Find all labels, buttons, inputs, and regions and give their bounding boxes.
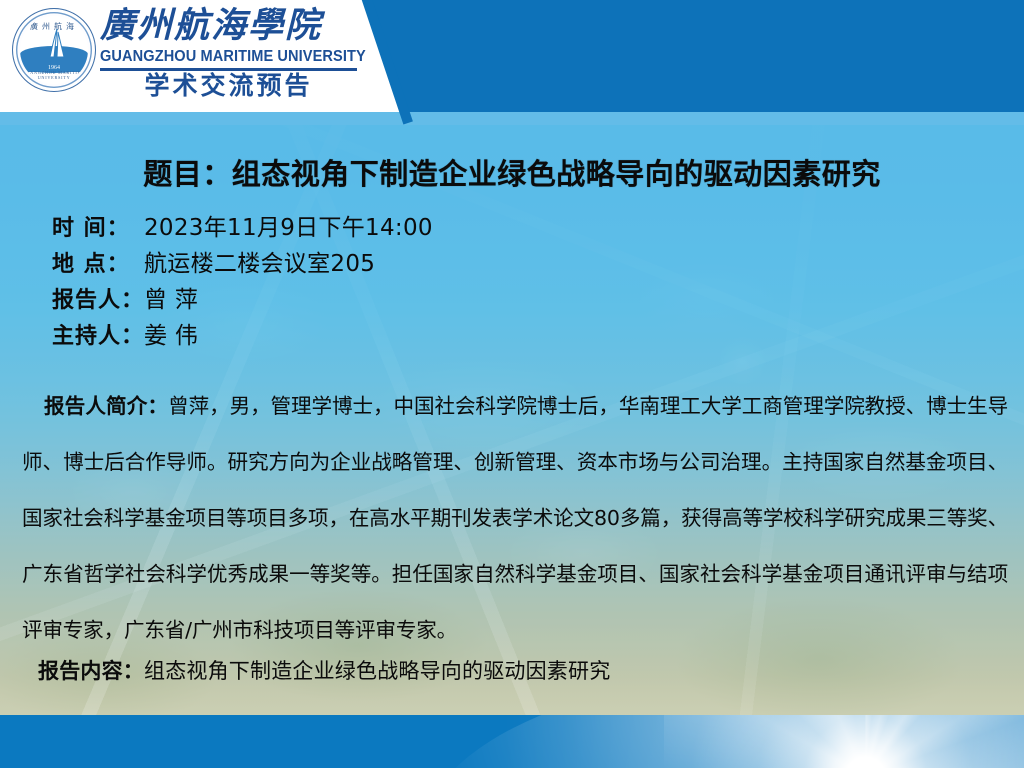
light-burst-icon (664, 715, 1024, 768)
university-name-en: GUANGZHOU MARITIME UNIVERSITY (100, 48, 346, 66)
university-name-cn: 廣州航海學院 (100, 4, 362, 48)
talk-abstract-text: 组态视角下制造企业绿色战略导向的驱动因素研究 (144, 659, 610, 683)
speaker-bio-text: 曾萍，男，管理学博士，中国社会科学院博士后，华南理工大学工商管理学院教授、博士生… (22, 394, 1008, 642)
meta-label-host: 主持人： (52, 318, 144, 350)
crest-arc-bottom-label: GUANGZHOU MARITIME UNIVERSITY (20, 70, 88, 80)
header-underline-strip (0, 112, 1024, 125)
poster-slide: 廣州航海 1964 GUANGZHOU MARITIME UNIVERSITY … (0, 0, 1024, 768)
university-lockup: 廣州航海學院 GUANGZHOU MARITIME UNIVERSITY 学术交… (100, 4, 362, 101)
meta-label-location: 地 点： (52, 246, 144, 278)
banner-subtitle: 学术交流预告 (100, 73, 357, 101)
talk-abstract-label: 报告内容： (38, 659, 144, 683)
meta-row-speaker: 报告人： 曾 萍 (52, 280, 672, 316)
meta-value-host: 姜 伟 (144, 316, 198, 350)
talk-title: 题目：组态视角下制造企业绿色战略导向的驱动因素研究 (0, 151, 1024, 193)
talk-abstract: 报告内容：组态视角下制造企业绿色战略导向的驱动因素研究 (38, 655, 998, 685)
meta-label-time: 时 间： (52, 210, 144, 242)
meta-label-speaker: 报告人： (52, 282, 144, 314)
footer-band (0, 715, 1024, 768)
content-area: 题目：组态视角下制造企业绿色战略导向的驱动因素研究 时 间： 2023年11月9… (0, 125, 1024, 715)
meta-value-time: 2023年11月9日下午14:00 (144, 208, 433, 242)
meta-value-location: 航运楼二楼会议室205 (144, 244, 375, 278)
lockup-divider (100, 68, 357, 71)
meta-value-speaker: 曾 萍 (144, 280, 198, 314)
talk-meta-list: 时 间： 2023年11月9日下午14:00 地 点： 航运楼二楼会议室205 … (52, 208, 672, 352)
speaker-bio: 报告人简介：曾萍，男，管理学博士，中国社会科学院博士后，华南理工大学工商管理学院… (22, 378, 1008, 658)
crest-inner-disc: 廣州航海 1964 GUANGZHOU MARITIME UNIVERSITY (20, 16, 88, 84)
speaker-bio-label: 报告人简介： (44, 394, 168, 418)
university-crest: 廣州航海 1964 GUANGZHOU MARITIME UNIVERSITY (12, 8, 96, 92)
sailboat-icon (47, 28, 67, 62)
meta-row-time: 时 间： 2023年11月9日下午14:00 (52, 208, 672, 244)
meta-row-host: 主持人： 姜 伟 (52, 316, 672, 352)
meta-row-location: 地 点： 航运楼二楼会议室205 (52, 244, 672, 280)
header-band: 廣州航海 1964 GUANGZHOU MARITIME UNIVERSITY … (0, 0, 1024, 112)
